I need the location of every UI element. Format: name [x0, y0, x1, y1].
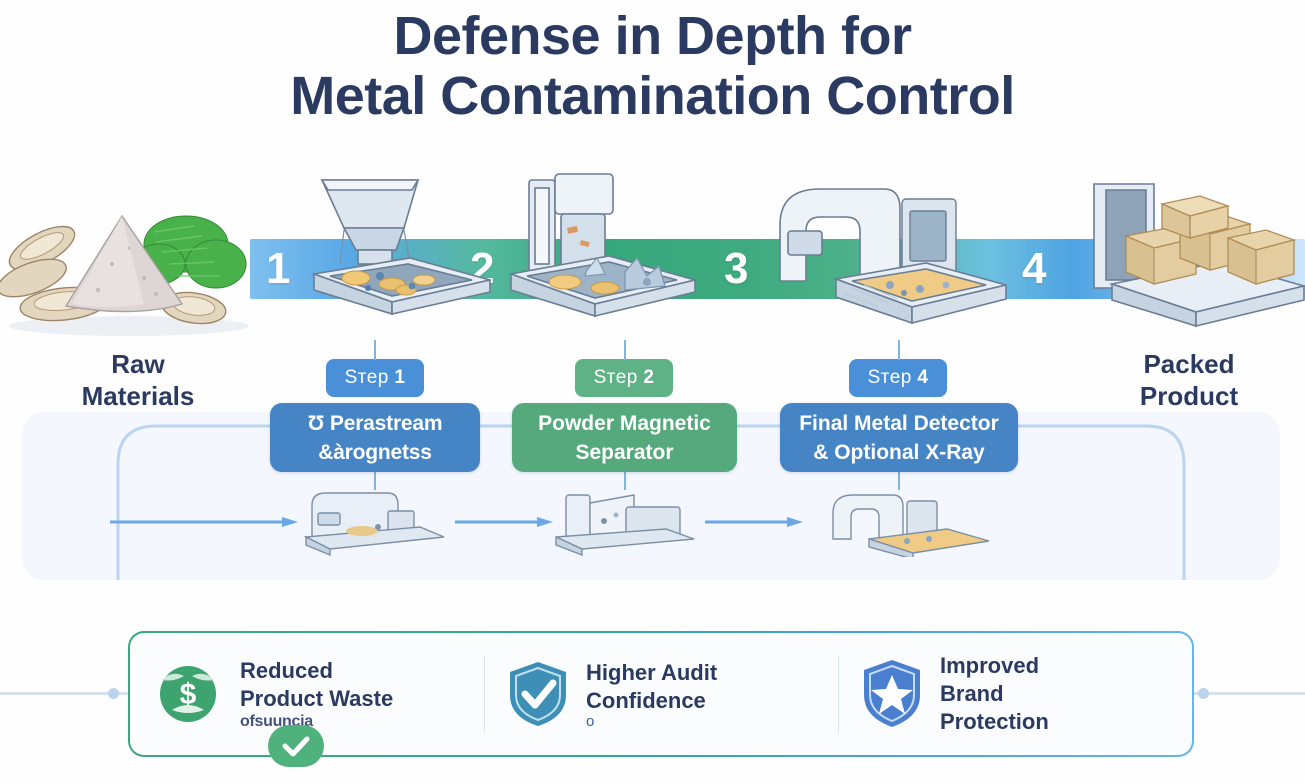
step-chip-1-number: 1	[394, 367, 405, 388]
packed-product-label: Packed Product	[1096, 348, 1282, 412]
benefit-3-line2: Brand	[940, 680, 1049, 708]
infographic-page: Defense in Depth for Metal Contamination…	[0, 0, 1305, 783]
raw-materials-label: Raw Materials	[48, 348, 228, 412]
money-savings-icon: $	[152, 658, 224, 730]
step-chip-3-number: 4	[917, 367, 928, 388]
benefit-2-line3: o	[586, 715, 717, 729]
lower-machine-2	[550, 487, 700, 557]
step-card-3[interactable]: Final Metal Detector & Optional X-Ray	[780, 403, 1018, 472]
connector-line-step1-top	[374, 340, 376, 360]
benefit-2-line1: Higher Audit	[586, 659, 717, 687]
step-chip-1[interactable]: Sᴛep 1	[326, 359, 424, 397]
step-card-3-line2: & Optional X-Ray	[799, 438, 999, 467]
check-icon	[281, 734, 311, 758]
benefit-higher-audit-confidence[interactable]: Higher Audit Confidence o	[484, 633, 838, 755]
svg-text:$: $	[180, 678, 197, 711]
benefit-1-line2: Product Waste	[240, 685, 393, 713]
connector-line-step3-top	[898, 340, 900, 360]
connector-line-step2-top	[624, 340, 626, 360]
step-chip-2-number: 2	[643, 367, 654, 388]
step-card-3-line1: Final Metal Detector	[799, 409, 999, 438]
flow-arrow-1	[455, 516, 555, 528]
lower-machine-1	[300, 487, 450, 557]
check-badge	[268, 725, 324, 767]
packed-boxes-illustration	[1060, 176, 1305, 331]
metal-detector-tunnel-illustration	[770, 175, 1010, 330]
packed-product-label-line1: Packed	[1096, 348, 1282, 380]
benefits-side-dot-right	[1198, 688, 1209, 699]
benefit-improved-brand-protection[interactable]: Improved Brand Protection	[838, 633, 1192, 755]
band-number-1: 1	[266, 239, 290, 299]
raw-materials-label-line1: Raw	[48, 348, 228, 380]
step-chip-2[interactable]: Sᴛep 2	[575, 359, 673, 397]
shield-check-icon	[506, 659, 570, 729]
shield-star-icon	[860, 657, 924, 731]
step-card-2-line1: Powder Magnetic	[538, 409, 711, 438]
step-card-2[interactable]: Powder Magnetic Separator	[512, 403, 737, 472]
step-chip-1-word: Sᴛep	[345, 367, 389, 388]
title-line-2: Metal Contamination Control	[0, 66, 1305, 126]
magnetic-separator-illustration	[505, 170, 705, 328]
step-card-1[interactable]: Ʊ Perastream &àrognetss	[270, 403, 480, 472]
benefit-3-line3: Protection	[940, 708, 1049, 736]
flow-arrow-start	[110, 516, 300, 528]
step-chip-3-word: Sᴛep	[868, 367, 912, 388]
flow-arrow-2	[705, 516, 805, 528]
lower-machine-3	[825, 487, 995, 557]
benefits-side-dot-left	[108, 688, 119, 699]
step-card-2-line2: Separator	[538, 438, 711, 467]
band-number-3: 3	[724, 239, 748, 299]
raw-materials-illustration	[0, 186, 264, 338]
benefit-3-line1: Improved	[940, 652, 1049, 680]
page-title: Defense in Depth for Metal Contamination…	[0, 6, 1305, 126]
step-chip-3[interactable]: Sᴛep 4	[849, 359, 947, 397]
band-number-4: 4	[1022, 239, 1046, 299]
step-chip-2-word: Sᴛep	[594, 367, 638, 388]
title-line-1: Defense in Depth for	[393, 6, 911, 66]
benefit-2-line2: Confidence	[586, 687, 717, 715]
hopper-feeder-illustration	[300, 168, 500, 328]
benefit-1-line3: ofsuuncia	[240, 713, 393, 731]
benefit-1-line1: Reduced	[240, 657, 393, 685]
step-card-1-line2: &àrognetss	[308, 438, 443, 467]
step-card-1-line1: Ʊ Perastream	[308, 409, 443, 438]
